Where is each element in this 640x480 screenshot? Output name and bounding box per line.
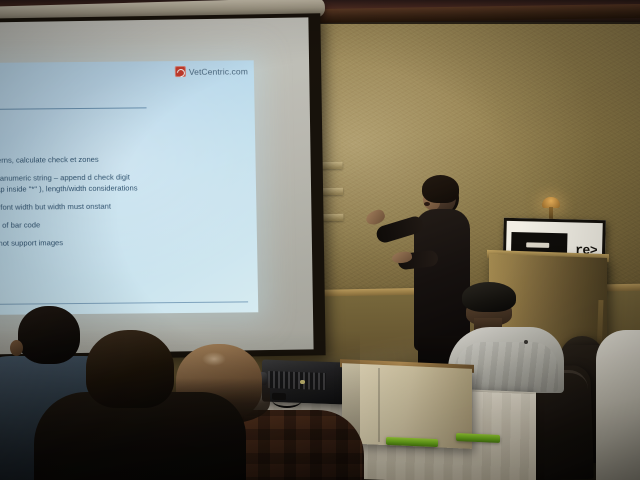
person-dark-coat (52, 330, 232, 480)
presentation-photo: VetCentric.com e Basics Images? ems with… (0, 0, 640, 480)
beret-cap-icon (462, 282, 516, 312)
right-edge-body (596, 330, 640, 480)
slide-bullet-list: ccount for start/stop patterns, calculat… (0, 153, 155, 256)
vetcentric-logo-icon (175, 66, 186, 77)
cardboard-box-edge (378, 368, 380, 442)
slide-bullet: ifferent font for each kind of bar code (0, 218, 155, 231)
wall-sconce (542, 197, 560, 221)
slide-brand-text: VetCentric.com (189, 66, 248, 77)
blue-shirt-ear (10, 340, 23, 356)
person-right-edge (596, 330, 640, 480)
cap-man-shirt-button (524, 340, 528, 344)
slide-bullet: g font size may increase font width but … (0, 200, 154, 213)
sign-slot-shape (526, 242, 549, 248)
slide-bullet: matter of printing an alphanumeric strin… (0, 171, 154, 195)
projected-slide: VetCentric.com e Basics Images? ems with… (0, 60, 258, 315)
slide-footer-rule (0, 301, 248, 305)
cardboard-box (342, 363, 472, 449)
slide-bullet: rnative if application cannot support im… (0, 236, 155, 249)
presenter-hair (422, 175, 459, 203)
slide-brand-logo: VetCentric.com (175, 65, 248, 77)
slide-bullet: ccount for start/stop patterns, calculat… (0, 153, 154, 166)
dark-coat-head (86, 330, 174, 408)
presenter-mouth (424, 202, 430, 206)
slide-title-rule (0, 107, 147, 110)
